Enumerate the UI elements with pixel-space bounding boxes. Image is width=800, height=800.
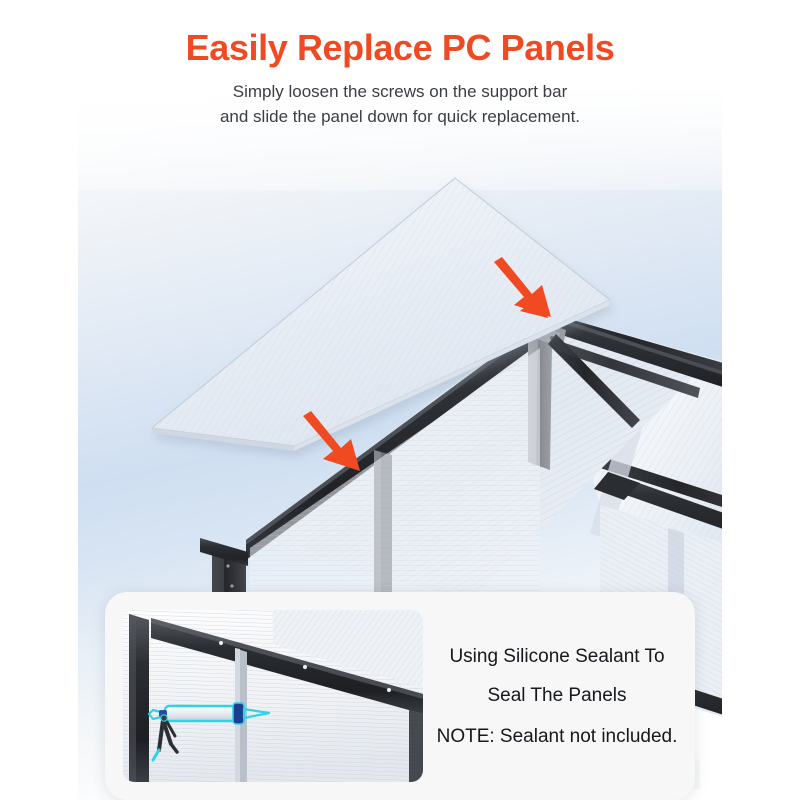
sealant-callout-card: Using Silicone Sealant To Seal The Panel…	[105, 592, 695, 800]
callout-line-2: Seal The Panels	[487, 686, 626, 705]
callout-line-1: Using Silicone Sealant To	[449, 647, 664, 666]
sealant-callout-text: Using Silicone Sealant To Seal The Panel…	[423, 592, 695, 800]
callout-note: NOTE: Sealant not included.	[437, 727, 678, 746]
page-subtitle: Simply loosen the screws on the support …	[0, 80, 800, 129]
sealant-photo	[123, 610, 423, 782]
subtitle-line-2: and slide the panel down for quick repla…	[0, 105, 800, 130]
product-feature-image: Easily Replace PC Panels Simply loosen t…	[0, 0, 800, 800]
header-block: Easily Replace PC Panels Simply loosen t…	[0, 28, 800, 130]
subtitle-line-1: Simply loosen the screws on the support …	[0, 80, 800, 105]
page-title: Easily Replace PC Panels	[0, 28, 800, 68]
